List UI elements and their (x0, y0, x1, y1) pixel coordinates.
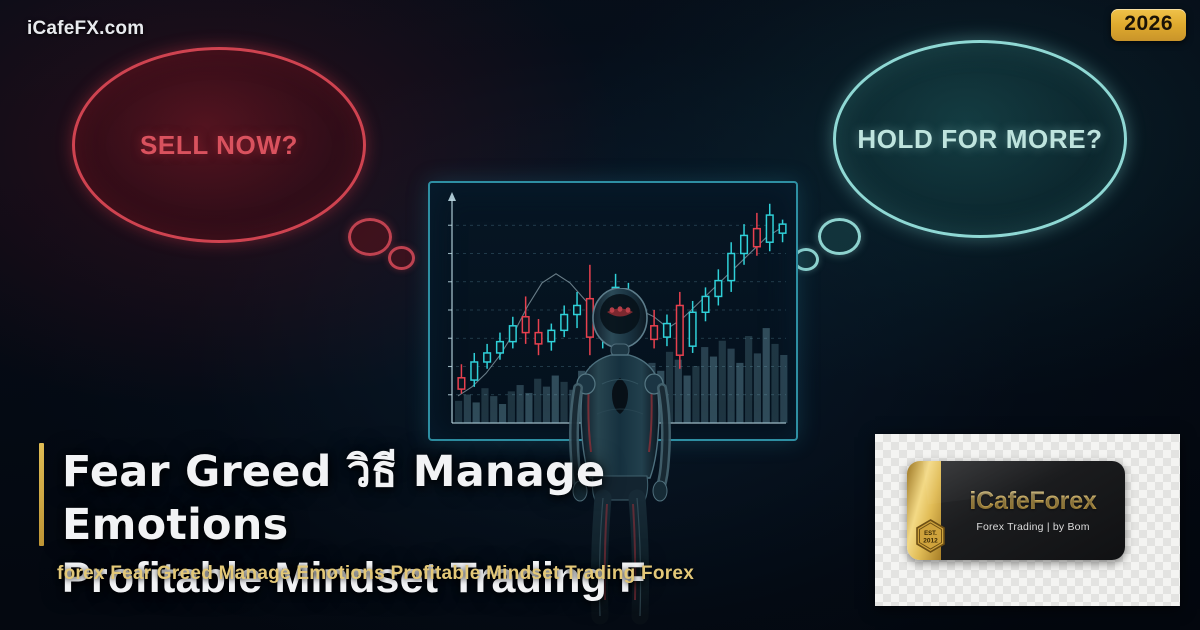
brand-plate: EST. 2012 iCafeForex Forex Trading | by … (907, 461, 1125, 560)
est-label-line2: 2012 (923, 538, 938, 545)
thought-dot-red-small (388, 246, 415, 270)
year-badge: 2026 (1111, 9, 1186, 41)
brand-tagline: Forex Trading | by Bom (941, 521, 1125, 533)
thought-dot-red-large (348, 218, 392, 256)
est-label-line1: EST. (924, 531, 937, 537)
brand-name: iCafeForex (941, 487, 1125, 516)
page-subtitle: forex Fear Greed Manage Emotions Profita… (57, 563, 857, 585)
site-name: iCafeFX.com (27, 18, 144, 40)
poster-canvas: iCafeFX.com 2026 SELL NOW? HOLD FOR MORE… (0, 0, 1200, 630)
page-title-line-1: Fear Greed วิธี Manage Emotions (62, 446, 822, 552)
brand-plate-body: iCafeForex Forex Trading | by Bom (941, 461, 1125, 560)
headline-accent-bar (39, 443, 44, 546)
brand-logo-card: EST. 2012 iCafeForex Forex Trading | by … (875, 434, 1180, 606)
est-2012-badge: EST. 2012 (915, 519, 946, 553)
thought-bubble-hold-label: HOLD FOR MORE? (857, 124, 1102, 155)
thought-bubble-sell: SELL NOW? (72, 47, 366, 243)
thought-dot-teal-large (818, 218, 861, 255)
thought-bubble-hold: HOLD FOR MORE? (833, 40, 1127, 238)
thought-bubble-sell-label: SELL NOW? (140, 130, 298, 161)
